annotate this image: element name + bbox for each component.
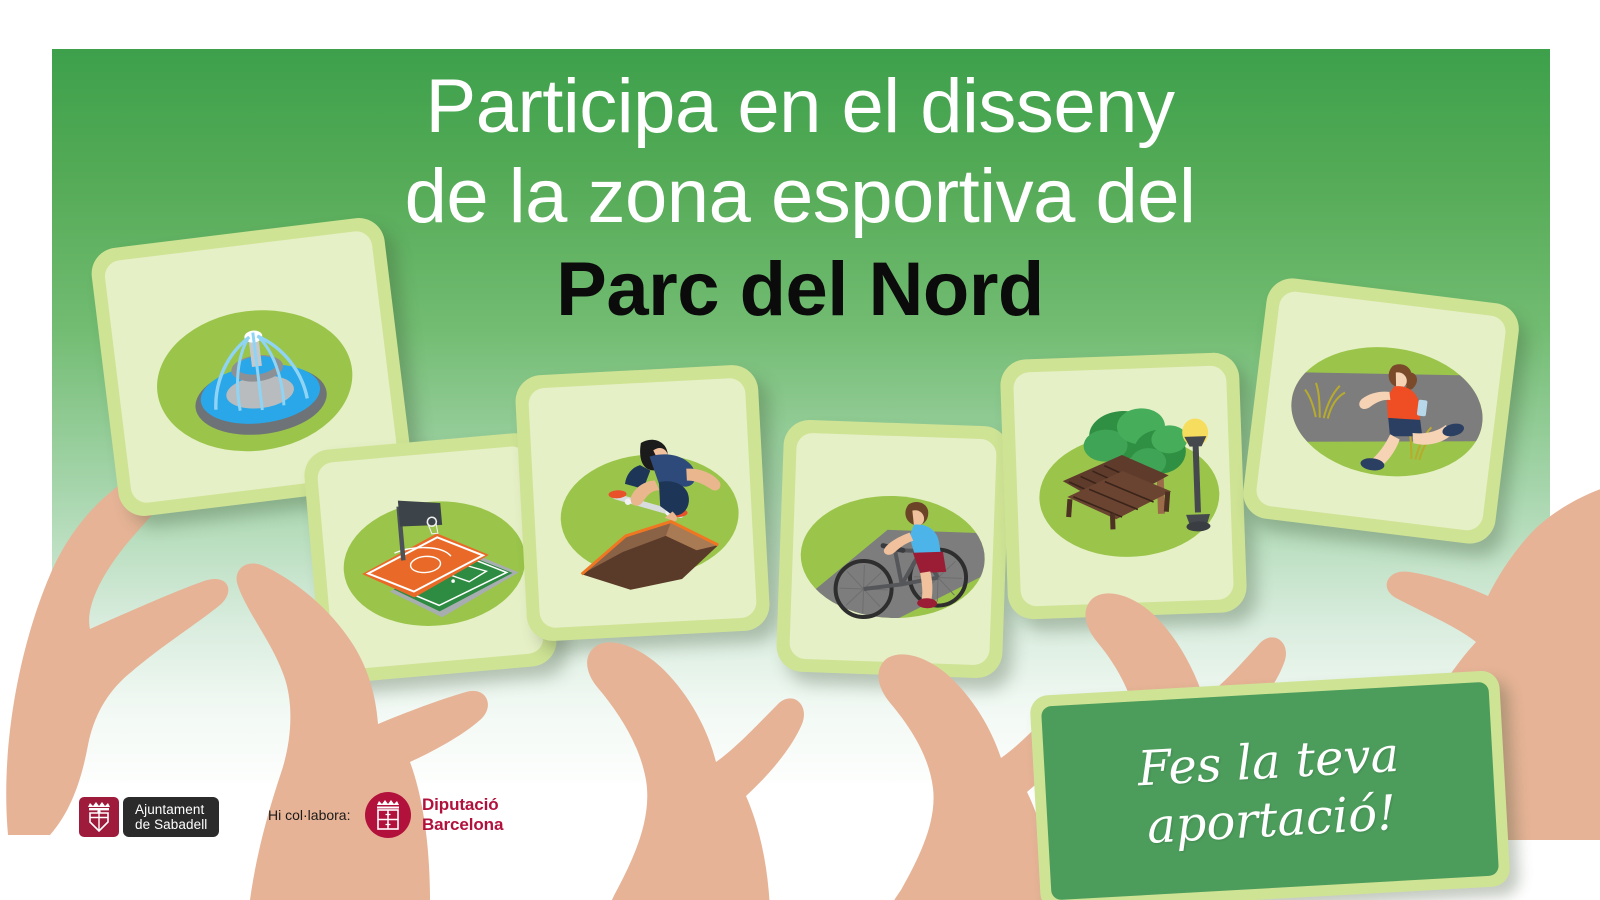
fountain-icon xyxy=(159,282,357,463)
diputacio-line-2: Barcelona xyxy=(422,815,503,835)
diputacio-name: Diputació Barcelona xyxy=(422,795,503,835)
ajuntament-name-plate: Ajuntament de Sabadell xyxy=(123,797,219,837)
ajuntament-sabadell-logo[interactable]: Ajuntament de Sabadell xyxy=(79,797,219,837)
ajuntament-line-1: Ajuntament xyxy=(135,802,207,817)
footer-logos: Ajuntament de Sabadell Hi col·labora: Di… xyxy=(0,790,1600,900)
diputacio-barcelona-logo[interactable]: Diputació Barcelona xyxy=(365,792,503,838)
diputacio-line-1: Diputació xyxy=(422,795,503,815)
collaborator-label: Hi col·labora: xyxy=(268,807,350,823)
sabadell-crest-icon xyxy=(79,797,119,837)
ajuntament-line-2: de Sabadell xyxy=(135,817,207,832)
diputacio-crest-icon xyxy=(365,792,411,838)
poster-canvas: Participa en el disseny de la zona espor… xyxy=(0,0,1600,900)
